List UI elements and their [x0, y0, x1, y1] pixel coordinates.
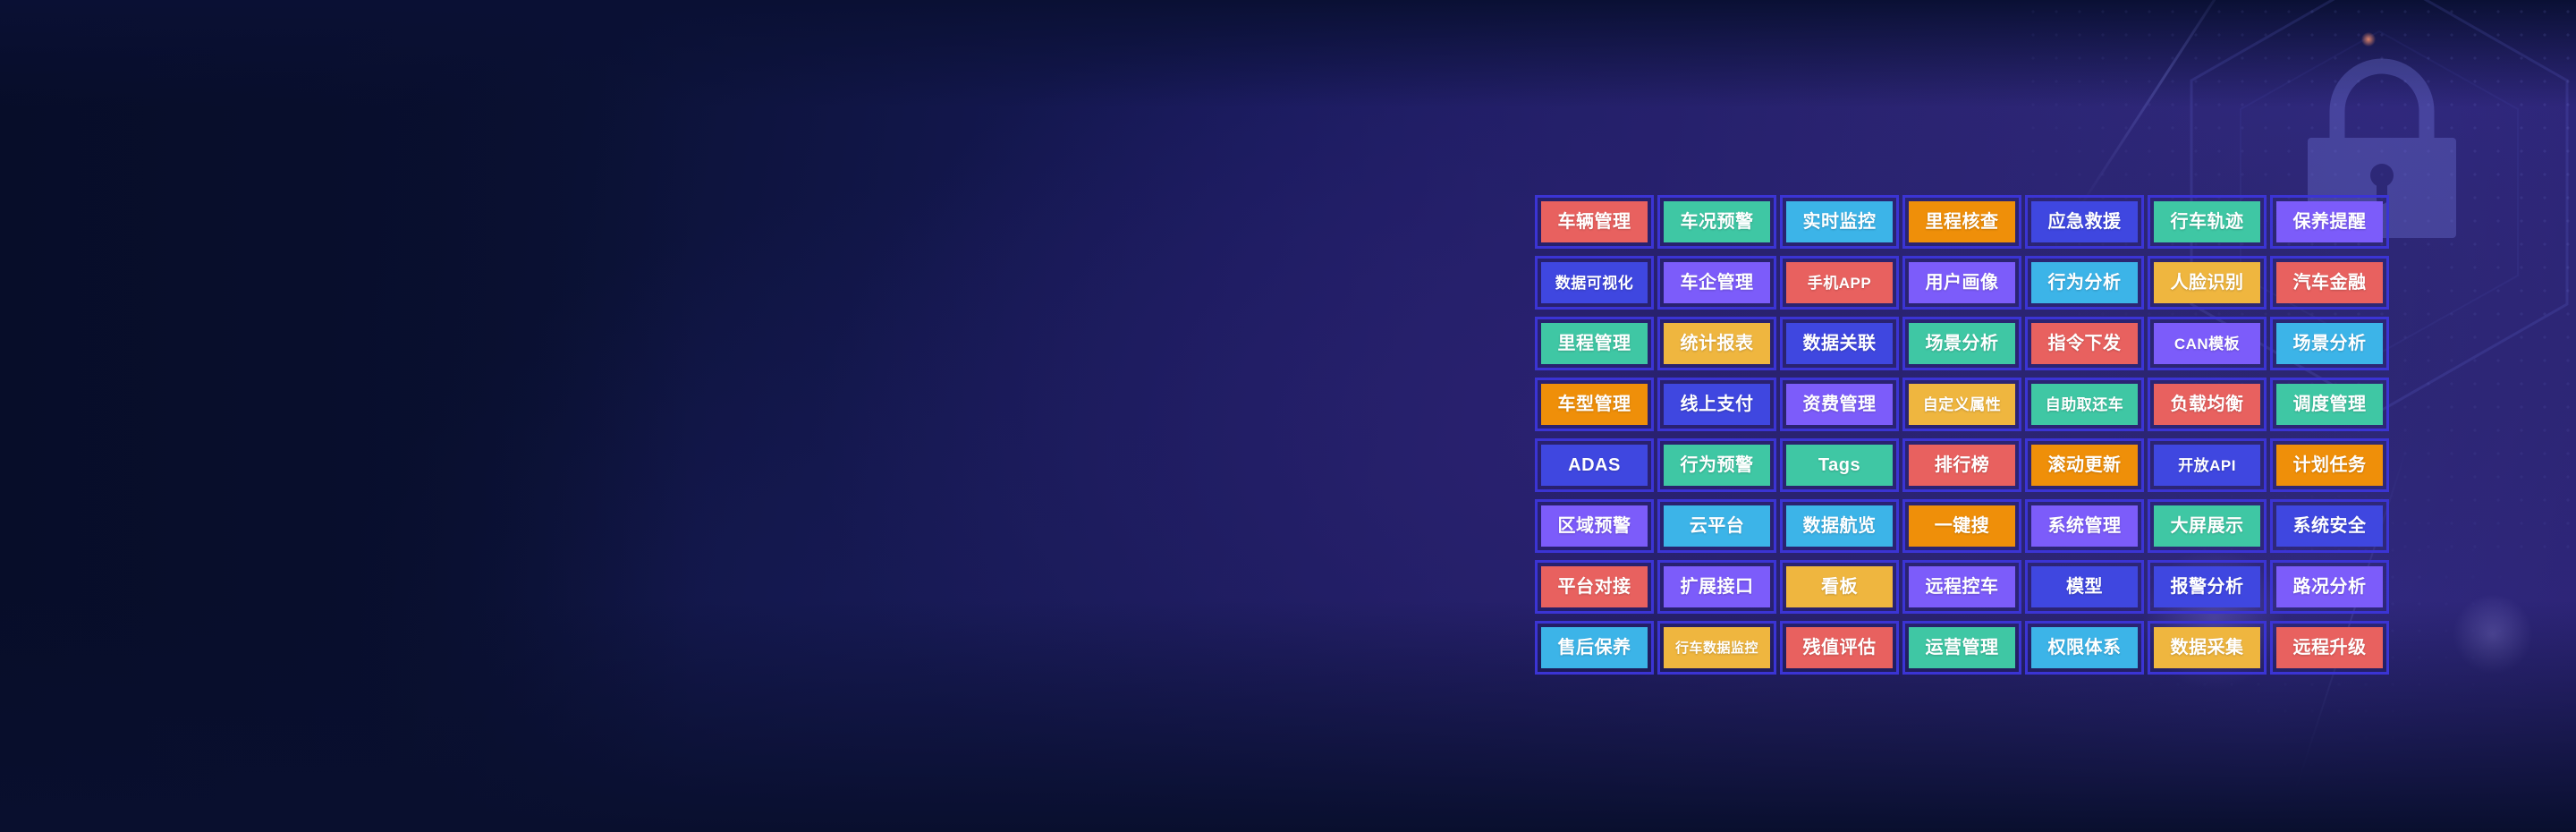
feature-tag[interactable]: 实时监控 — [1780, 195, 1899, 249]
feature-tag-label: 权限体系 — [2031, 627, 2138, 668]
feature-tag[interactable]: 调度管理 — [2270, 378, 2389, 431]
feature-tag-label: 排行榜 — [1909, 445, 2015, 486]
feature-tag-label: 行为分析 — [2031, 262, 2138, 303]
feature-tag-label: 行车数据监控 — [1664, 627, 1770, 668]
feature-tag[interactable]: 运营管理 — [1902, 621, 2021, 675]
feature-tag-label: 车型管理 — [1541, 384, 1648, 425]
feature-tag[interactable]: 统计报表 — [1657, 317, 1776, 370]
feature-tag-label: 数据关联 — [1786, 323, 1893, 364]
feature-tag[interactable]: 数据可视化 — [1535, 256, 1654, 310]
feature-tag-label: 行车轨迹 — [2154, 201, 2260, 242]
feature-tag-label: 远程升级 — [2276, 627, 2383, 668]
feature-tag-label: 资费管理 — [1786, 384, 1893, 425]
feature-tag-label: 看板 — [1786, 566, 1893, 607]
feature-tag-label: 一键搜 — [1909, 505, 2015, 547]
feature-tag[interactable]: 用户画像 — [1902, 256, 2021, 310]
feature-tag[interactable]: 资费管理 — [1780, 378, 1899, 431]
feature-tag[interactable]: 路况分析 — [2270, 560, 2389, 614]
feature-tag[interactable]: 远程控车 — [1902, 560, 2021, 614]
feature-tag[interactable]: 看板 — [1780, 560, 1899, 614]
feature-tag-label: 场景分析 — [2276, 323, 2383, 364]
feature-tag[interactable]: 系统安全 — [2270, 499, 2389, 553]
feature-tag[interactable]: 系统管理 — [2025, 499, 2144, 553]
feature-tag-label: 保养提醒 — [2276, 201, 2383, 242]
feature-tag-label: 汽车金融 — [2276, 262, 2383, 303]
feature-tag-label: 线上支付 — [1664, 384, 1770, 425]
feature-tag[interactable]: 一键搜 — [1902, 499, 2021, 553]
feature-tag-label: 区域预警 — [1541, 505, 1648, 547]
feature-tag-grid: 车辆管理车况预警实时监控里程核查应急救援行车轨迹保养提醒数据可视化车企管理手机A… — [1535, 195, 2389, 675]
feature-tag-label: 开放API — [2154, 445, 2260, 486]
feature-tag-label: Tags — [1786, 445, 1893, 486]
feature-tag[interactable]: 平台对接 — [1535, 560, 1654, 614]
feature-tag-label: 计划任务 — [2276, 445, 2383, 486]
feature-tag-label: 场景分析 — [1909, 323, 2015, 364]
feature-tag-label: 数据航览 — [1786, 505, 1893, 547]
feature-tag[interactable]: 排行榜 — [1902, 438, 2021, 492]
feature-tag[interactable]: 行车数据监控 — [1657, 621, 1776, 675]
feature-tag-label: 自定义属性 — [1909, 384, 2015, 425]
feature-tag-label: 数据采集 — [2154, 627, 2260, 668]
feature-tag-label: 实时监控 — [1786, 201, 1893, 242]
feature-tag[interactable]: 里程核查 — [1902, 195, 2021, 249]
feature-tag-label: 调度管理 — [2276, 384, 2383, 425]
feature-tag-label: 云平台 — [1664, 505, 1770, 547]
feature-tag-label: 大屏展示 — [2154, 505, 2260, 547]
feature-tag-label: 手机APP — [1786, 262, 1893, 303]
feature-tag-label: 售后保养 — [1541, 627, 1648, 668]
feature-tag[interactable]: 大屏展示 — [2148, 499, 2267, 553]
feature-tag[interactable]: 里程管理 — [1535, 317, 1654, 370]
feature-tag-label: 残值评估 — [1786, 627, 1893, 668]
feature-tag-label: 里程管理 — [1541, 323, 1648, 364]
feature-tag[interactable]: CAN模板 — [2148, 317, 2267, 370]
feature-tag[interactable]: 人脸识别 — [2148, 256, 2267, 310]
feature-tag[interactable]: 数据航览 — [1780, 499, 1899, 553]
feature-tag-label: 里程核查 — [1909, 201, 2015, 242]
feature-tag[interactable]: 车辆管理 — [1535, 195, 1654, 249]
feature-tag[interactable]: 报警分析 — [2148, 560, 2267, 614]
feature-tag[interactable]: ADAS — [1535, 438, 1654, 492]
feature-tag[interactable]: 行车轨迹 — [2148, 195, 2267, 249]
glow-dot-accent — [2361, 32, 2376, 47]
feature-tag[interactable]: 车型管理 — [1535, 378, 1654, 431]
feature-tag-label: 车企管理 — [1664, 262, 1770, 303]
feature-tag[interactable]: 售后保养 — [1535, 621, 1654, 675]
feature-tag-label: 远程控车 — [1909, 566, 2015, 607]
feature-tag-label: 统计报表 — [1664, 323, 1770, 364]
feature-tag[interactable]: 线上支付 — [1657, 378, 1776, 431]
feature-tag[interactable]: 数据采集 — [2148, 621, 2267, 675]
feature-tag[interactable]: 云平台 — [1657, 499, 1776, 553]
feature-tag-label: 车辆管理 — [1541, 201, 1648, 242]
feature-tag-label: 模型 — [2031, 566, 2138, 607]
feature-tag[interactable]: 行为预警 — [1657, 438, 1776, 492]
feature-tag-label: 指令下发 — [2031, 323, 2138, 364]
feature-tag[interactable]: 权限体系 — [2025, 621, 2144, 675]
feature-tag-label: ADAS — [1541, 445, 1648, 486]
feature-tag[interactable]: 场景分析 — [2270, 317, 2389, 370]
feature-tag[interactable]: 模型 — [2025, 560, 2144, 614]
feature-tag-label: 数据可视化 — [1541, 262, 1648, 303]
feature-tag-label: 平台对接 — [1541, 566, 1648, 607]
feature-tag-label: 自助取还车 — [2031, 384, 2138, 425]
feature-tag-label: 行为预警 — [1664, 445, 1770, 486]
feature-tag[interactable]: 场景分析 — [1902, 317, 2021, 370]
feature-tag-label: 系统管理 — [2031, 505, 2138, 547]
feature-tag-label: 车况预警 — [1664, 201, 1770, 242]
feature-tag[interactable]: 指令下发 — [2025, 317, 2144, 370]
feature-tag-label: 应急救援 — [2031, 201, 2138, 242]
feature-tag[interactable]: 车企管理 — [1657, 256, 1776, 310]
feature-tag-label: 系统安全 — [2276, 505, 2383, 547]
feature-tag[interactable]: 扩展接口 — [1657, 560, 1776, 614]
feature-tag-label: 人脸识别 — [2154, 262, 2260, 303]
feature-tag[interactable]: 计划任务 — [2270, 438, 2389, 492]
feature-tag[interactable]: 远程升级 — [2270, 621, 2389, 675]
feature-tag[interactable]: 数据关联 — [1780, 317, 1899, 370]
feature-tag-label: 用户画像 — [1909, 262, 2015, 303]
feature-tag[interactable]: 应急救援 — [2025, 195, 2144, 249]
feature-tag-label: 扩展接口 — [1664, 566, 1770, 607]
feature-tag[interactable]: 负载均衡 — [2148, 378, 2267, 431]
feature-tag-label: CAN模板 — [2154, 323, 2260, 364]
feature-tag-label: 报警分析 — [2154, 566, 2260, 607]
feature-tag[interactable]: 滚动更新 — [2025, 438, 2144, 492]
feature-tag[interactable]: 区域预警 — [1535, 499, 1654, 553]
feature-tag[interactable]: 残值评估 — [1780, 621, 1899, 675]
feature-tag-label: 滚动更新 — [2031, 445, 2138, 486]
feature-tag[interactable]: 行为分析 — [2025, 256, 2144, 310]
feature-tag[interactable]: 汽车金融 — [2270, 256, 2389, 310]
feature-tag[interactable]: Tags — [1780, 438, 1899, 492]
feature-tag-label: 负载均衡 — [2154, 384, 2260, 425]
feature-tag-label: 运营管理 — [1909, 627, 2015, 668]
feature-tag[interactable]: 车况预警 — [1657, 195, 1776, 249]
feature-tag[interactable]: 自定义属性 — [1902, 378, 2021, 431]
feature-tag[interactable]: 开放API — [2148, 438, 2267, 492]
feature-tag-label: 路况分析 — [2276, 566, 2383, 607]
feature-tag[interactable]: 自助取还车 — [2025, 378, 2144, 431]
feature-tag[interactable]: 保养提醒 — [2270, 195, 2389, 249]
page-root: 车辆管理车况预警实时监控里程核查应急救援行车轨迹保养提醒数据可视化车企管理手机A… — [0, 0, 2576, 832]
feature-tag[interactable]: 手机APP — [1780, 256, 1899, 310]
